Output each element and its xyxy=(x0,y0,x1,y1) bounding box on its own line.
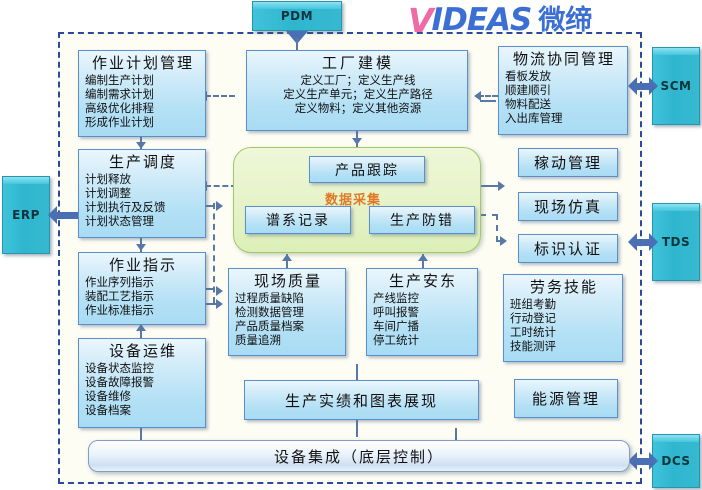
module-schedule-item: 计划释放 xyxy=(85,172,201,186)
module-equipment-item: 设备档案 xyxy=(85,403,201,417)
integration-bar[interactable]: 设备集成（底层控制） xyxy=(88,440,630,472)
connector-arrow-icon xyxy=(216,299,223,309)
module-schedule[interactable]: 生产调度 计划释放 计划调整 计划执行及反馈 计划状态管理 xyxy=(78,149,206,238)
module-factory-model-item: 定义物料；定义其他资源 xyxy=(253,101,463,115)
connector-arrow-icon xyxy=(136,142,146,149)
module-plan-item: 高级优化排程 xyxy=(85,101,201,115)
module-labor-item: 行动登记 xyxy=(510,311,618,325)
mes-architecture-diagram: V IDEAS 微缔 PDM ERP SCM TDS DCS xyxy=(0,0,702,490)
connector xyxy=(455,428,457,440)
module-factory-model[interactable]: 工厂建模 定义工厂；定义生产线 定义生产单元；定义生产路径 定义物料；定义其他资… xyxy=(246,50,468,131)
module-instruction-item: 装配工艺指示 xyxy=(85,289,201,303)
module-labor-item: 技能测评 xyxy=(510,339,618,353)
module-equipment-item: 设备故障报警 xyxy=(85,375,201,389)
module-schedule-item: 计划调整 xyxy=(85,186,201,200)
module-andon-item: 呼叫报警 xyxy=(373,305,473,319)
module-logistics[interactable]: 物流协同管理 看板发放 顺建顺引 物料配送 入出库管理 xyxy=(498,46,628,135)
external-system-erp[interactable]: ERP xyxy=(2,176,50,254)
module-instruction[interactable]: 作业指示 作业序列指示 装配工艺指示 作业标准指示 xyxy=(78,252,206,325)
module-logistics-item: 看板发放 xyxy=(505,69,623,83)
module-plan-item: 形成作业计划 xyxy=(85,115,201,129)
connector-arrow-icon xyxy=(500,236,507,246)
module-labor-item: 班组考勤 xyxy=(510,297,618,311)
module-labor[interactable]: 劳务技能 班组考勤 行动登记 工时统计 技能测评 xyxy=(503,274,623,362)
connector-arrow-icon xyxy=(136,324,146,331)
module-plan-title: 作业计划管理 xyxy=(85,53,201,73)
connector-arrow-icon xyxy=(498,181,505,191)
connector-arrow-icon xyxy=(352,138,362,145)
connector xyxy=(478,95,498,97)
module-labor-title: 劳务技能 xyxy=(510,277,618,297)
module-instruction-title: 作业指示 xyxy=(85,255,201,275)
module-andon-item: 产线监控 xyxy=(373,291,473,305)
external-system-tds[interactable]: TDS xyxy=(652,203,700,281)
connector xyxy=(140,428,142,440)
module-andon[interactable]: 生产安东 产线监控 呼叫报警 车间广播 停工统计 xyxy=(366,268,478,356)
module-equipment-item: 设备状态监控 xyxy=(85,361,201,375)
dcs-link-arrow-icon xyxy=(628,452,658,470)
module-simulation[interactable]: 现场仿真 xyxy=(518,192,618,221)
connector xyxy=(296,38,298,50)
module-plan[interactable]: 作业计划管理 编制生产计划 编制需求计划 高级优化排程 形成作业计划 xyxy=(78,50,206,137)
module-andon-item: 停工统计 xyxy=(373,333,473,347)
module-quality-item: 产品质量档案 xyxy=(235,319,341,333)
module-quality-item: 过程质量缺陷 xyxy=(235,291,341,305)
connector xyxy=(480,100,496,102)
module-product-tracking[interactable]: 产品跟踪 xyxy=(309,156,425,183)
module-equipment-title: 设备运维 xyxy=(85,341,201,361)
module-andon-item: 车间广播 xyxy=(373,319,473,333)
module-genealogy[interactable]: 谱系记录 xyxy=(245,206,351,234)
module-quality-item: 质量追溯 xyxy=(235,333,341,347)
module-labor-item: 工时统计 xyxy=(510,325,618,339)
module-andon-title: 生产安东 xyxy=(373,271,473,291)
module-oee[interactable]: 稼动管理 xyxy=(518,148,618,177)
module-error-proofing[interactable]: 生产防错 xyxy=(369,206,475,234)
module-reporting[interactable]: 生产实绩和图表展现 xyxy=(244,380,479,420)
connector-arrow-icon xyxy=(136,244,146,251)
connector xyxy=(356,364,358,380)
module-logistics-item: 顺建顺引 xyxy=(505,83,623,97)
tds-link-arrow-icon xyxy=(628,233,658,251)
connector-arrow-icon xyxy=(282,254,292,261)
module-plan-item: 编制需求计划 xyxy=(85,87,201,101)
external-system-pdm[interactable]: PDM xyxy=(252,1,342,31)
connector xyxy=(205,95,235,97)
connector xyxy=(496,214,498,242)
module-identification[interactable]: 标识认证 xyxy=(518,234,618,263)
module-schedule-item: 计划状态管理 xyxy=(85,214,201,228)
connector-arrow-icon xyxy=(216,201,223,211)
external-system-scm[interactable]: SCM xyxy=(652,47,700,125)
module-plan-item: 编制生产计划 xyxy=(85,73,201,87)
module-factory-model-item: 定义生产单元；定义生产路径 xyxy=(253,87,463,101)
connector xyxy=(356,419,358,437)
connector xyxy=(205,205,215,207)
module-quality-title: 现场质量 xyxy=(235,271,341,291)
module-energy[interactable]: 能源管理 xyxy=(514,379,618,418)
module-equipment[interactable]: 设备运维 设备状态监控 设备故障报警 设备维修 设备档案 xyxy=(78,338,206,428)
module-factory-model-title: 工厂建模 xyxy=(253,53,463,73)
module-logistics-item: 入出库管理 xyxy=(505,111,623,125)
module-instruction-item: 作业标准指示 xyxy=(85,303,201,317)
module-quality-item: 检测数据管理 xyxy=(235,305,341,319)
scm-link-arrow-icon xyxy=(628,77,658,95)
module-schedule-title: 生产调度 xyxy=(85,152,201,172)
connector-arrow-icon xyxy=(216,286,223,296)
connector-arrow-icon xyxy=(418,254,428,261)
module-instruction-item: 作业序列指示 xyxy=(85,275,201,289)
module-quality[interactable]: 现场质量 过程质量缺陷 检测数据管理 产品质量档案 质量追溯 xyxy=(228,268,346,356)
connector xyxy=(205,288,215,290)
module-logistics-item: 物料配送 xyxy=(505,97,623,111)
external-system-dcs[interactable]: DCS xyxy=(652,434,700,488)
module-equipment-item: 设备维修 xyxy=(85,389,201,403)
module-factory-model-item: 定义工厂；定义生产线 xyxy=(253,73,463,87)
module-logistics-title: 物流协同管理 xyxy=(505,49,623,69)
connector-arrow-icon xyxy=(474,91,481,101)
module-schedule-item: 计划执行及反馈 xyxy=(85,200,201,214)
